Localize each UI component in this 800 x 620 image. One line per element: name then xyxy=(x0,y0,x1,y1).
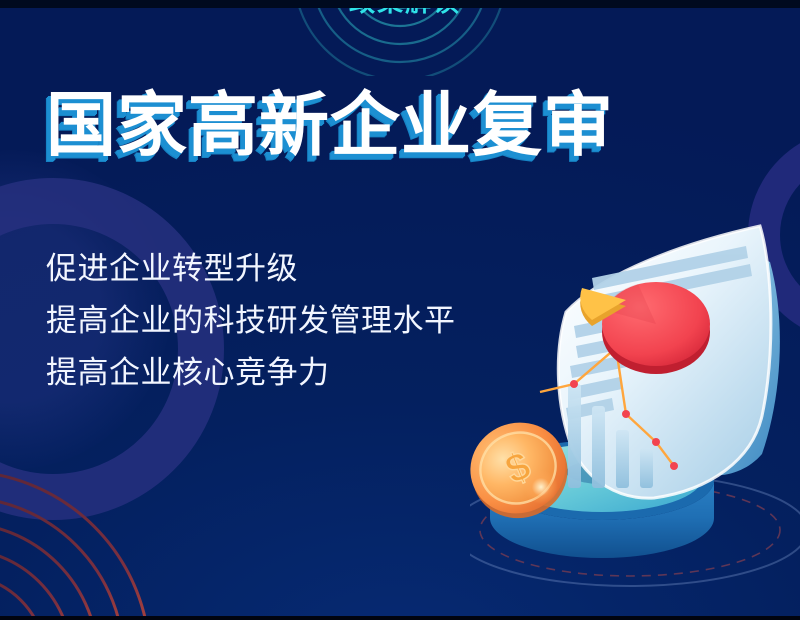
poster-root: $ 政策解读 国家高新企业复审 促进企业转型升级 提高企业的科技研发管理水平 提… xyxy=(0,0,800,620)
list-item: 提高企业的科技研发管理水平 xyxy=(46,295,456,347)
bottom-edge-band xyxy=(0,616,800,620)
list-item: 提高企业核心竞争力 xyxy=(46,347,456,399)
bottom-left-arcs-decoration xyxy=(0,441,200,620)
report-illustration: $ xyxy=(470,200,800,620)
list-item: 促进企业转型升级 xyxy=(46,243,456,295)
page-title: 国家高新企业复审 xyxy=(46,82,614,168)
top-edge-band xyxy=(0,0,800,8)
benefit-list: 促进企业转型升级 提高企业的科技研发管理水平 提高企业核心竞争力 xyxy=(46,243,456,399)
